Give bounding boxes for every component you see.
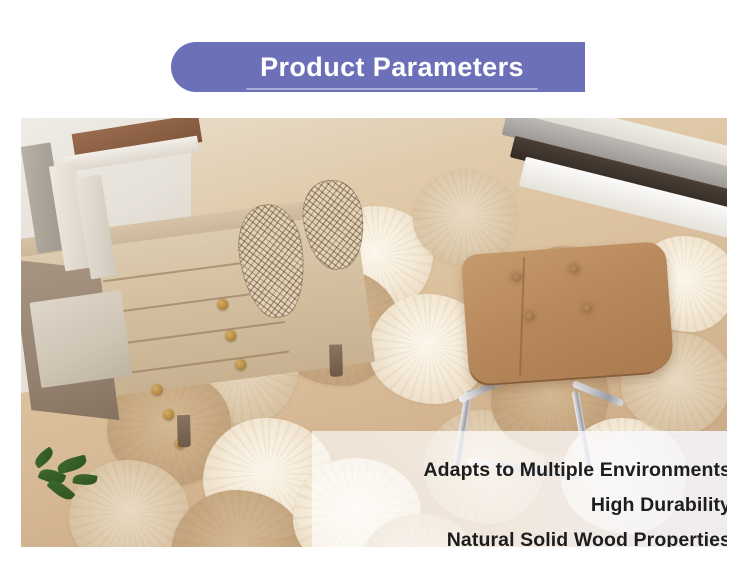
ottoman-seat-cushion (461, 241, 675, 385)
leather-ottoman (451, 240, 686, 455)
page-title: Product Parameters (260, 54, 524, 81)
sideboard-leg (177, 415, 191, 447)
feature-item: Natural Solid Wood Properties (312, 523, 727, 547)
product-parameters-banner: Product Parameters (171, 42, 585, 92)
feature-item: High Durability (312, 488, 727, 523)
title-underline (246, 88, 538, 90)
product-scene-photo: Adapts to Multiple Environments High Dur… (21, 118, 727, 547)
cushion-tuft (570, 265, 580, 274)
cushion-tuft (525, 312, 535, 321)
cushion-tuft (512, 273, 522, 282)
cushion-tuft (582, 304, 592, 313)
sideboard-leg (329, 344, 343, 376)
banner-inner: Product Parameters (260, 54, 524, 81)
storage-box (29, 290, 132, 388)
feature-list-panel: Adapts to Multiple Environments High Dur… (312, 431, 727, 547)
feature-item: Adapts to Multiple Environments (312, 453, 727, 488)
